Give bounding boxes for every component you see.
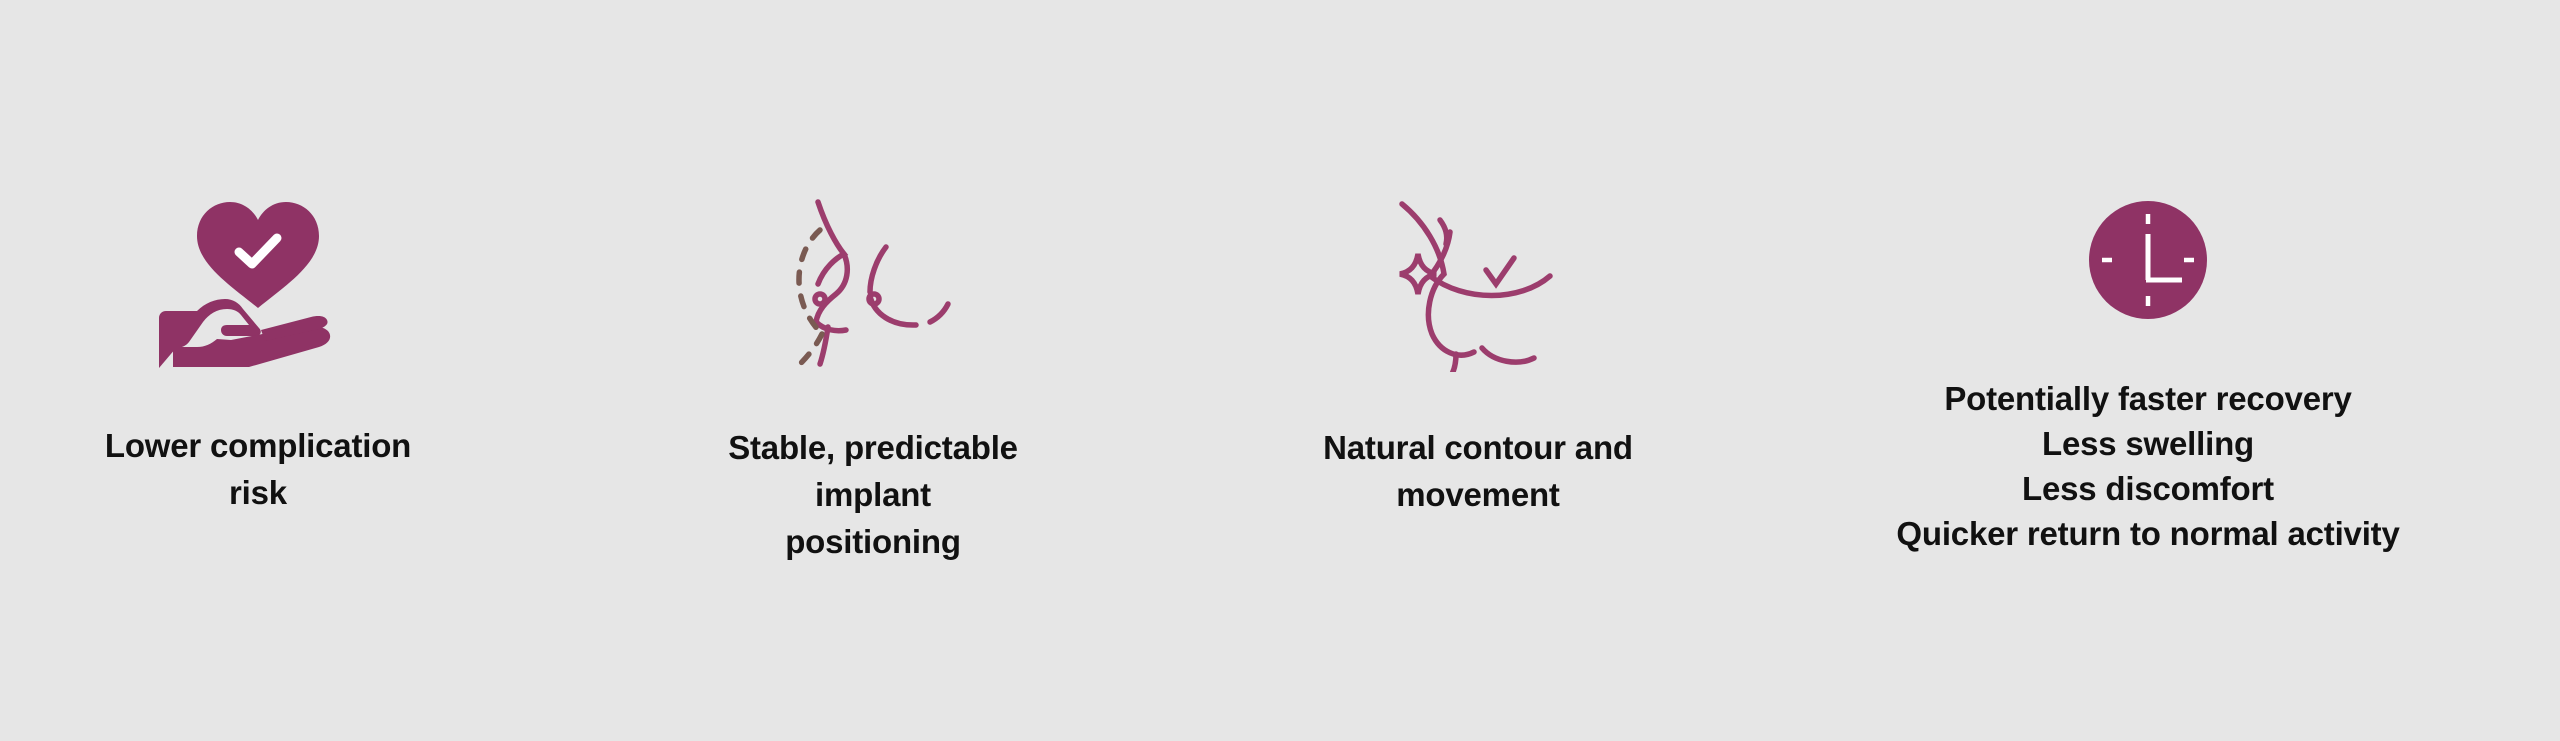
nipple-front xyxy=(815,294,825,304)
breast-2-upper-curve xyxy=(870,247,886,292)
benefits-feature-row: Lower complication risk xyxy=(0,0,2560,741)
clock-icon xyxy=(1878,0,2418,350)
caption-line-3: Less discomfort xyxy=(1896,466,2399,511)
sparkle-icon xyxy=(1400,254,1436,294)
natural-contour-sparkle-icon xyxy=(1278,0,1678,372)
caption-line-2: positioning xyxy=(673,518,1073,565)
feature-card-stable-implant-positioning: Stable, predictable implant positioning xyxy=(673,0,1073,565)
feature-caption: Natural contour and movement xyxy=(1323,424,1633,518)
nipple-rear xyxy=(869,294,879,304)
caption-line-1: Stable, predictable implant xyxy=(673,424,1073,518)
caption-line-4: Quicker return to normal activity xyxy=(1896,511,2399,556)
far-shoulder-arc xyxy=(930,304,948,322)
caption-line-2: movement xyxy=(1323,471,1633,518)
lower-right-fold xyxy=(1482,348,1534,362)
feature-caption: Lower complication risk xyxy=(105,422,411,516)
heart-in-hand-icon xyxy=(58,0,458,370)
feature-card-faster-recovery: Potentially faster recovery Less swellin… xyxy=(1878,0,2418,556)
torso-upper-curve xyxy=(818,202,844,284)
breast-profile-implant-icon xyxy=(673,0,1073,372)
feature-caption: Stable, predictable implant positioning xyxy=(673,424,1073,565)
breast-underside xyxy=(816,322,846,331)
caption-line-1: Natural contour and xyxy=(1323,424,1633,471)
feature-caption: Potentially faster recovery Less swellin… xyxy=(1896,376,2399,556)
center-drop-line xyxy=(1452,354,1456,372)
caption-line-1: Lower complication xyxy=(105,422,411,469)
caption-line-2: Less swelling xyxy=(1896,421,2399,466)
feature-card-natural-contour-movement: Natural contour and movement xyxy=(1278,0,1678,518)
v-check-mark xyxy=(1486,258,1514,284)
feature-card-lower-complication-risk: Lower complication risk xyxy=(58,0,458,516)
caption-line-2: risk xyxy=(105,469,411,516)
caption-line-1: Potentially faster recovery xyxy=(1896,376,2399,421)
